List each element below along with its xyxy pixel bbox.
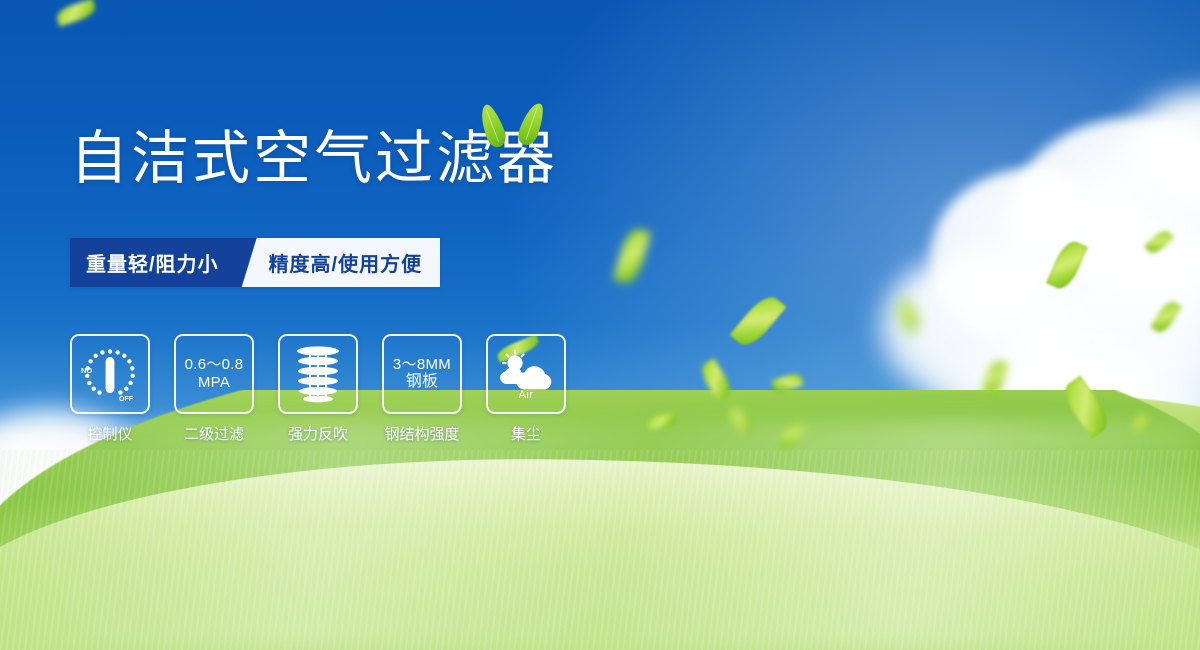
feature-item[interactable]: 0.6～0.8 MPA 二级过滤: [174, 334, 254, 444]
subtitle-right: 精度高/使用方便: [263, 238, 441, 287]
subtitle-bar: 重量轻/阻力小 精度高/使用方便: [70, 238, 440, 287]
feature-item[interactable]: Air 集尘: [486, 334, 566, 444]
page-title: 自洁式空气过滤器: [70, 130, 558, 188]
filter-cartridge-icon: [278, 334, 358, 414]
feature-label: 二级过滤: [184, 423, 244, 444]
pressure-value: 0.6～0.8: [185, 356, 244, 374]
feature-label: 控制仪: [87, 423, 132, 444]
feature-item[interactable]: NO OFF 控制仪: [70, 334, 150, 444]
air-cloud-icon: Air: [486, 334, 566, 414]
feature-item[interactable]: 3～8MM 钢板 钢结构强度: [382, 334, 462, 444]
air-label: Air: [519, 389, 534, 401]
steel-material: 钢板: [406, 373, 439, 392]
feature-item[interactable]: 强力反吹: [278, 334, 358, 444]
feature-label: 钢结构强度: [384, 423, 459, 444]
subtitle-left: 重量轻/阻力小: [70, 238, 237, 287]
gauge-off-label: OFF: [119, 396, 134, 403]
steel-thickness: 3～8MM: [393, 356, 451, 374]
feature-label: 集尘: [511, 423, 541, 444]
gauge-on-label: NO: [81, 366, 92, 375]
steel-plate-icon: 3～8MM 钢板: [382, 334, 462, 414]
feature-list: NO OFF 控制仪 0.6～0.8 MPA 二级过滤: [70, 334, 566, 444]
feature-label: 强力反吹: [288, 423, 348, 444]
pressure-icon: 0.6～0.8 MPA: [174, 334, 254, 414]
pressure-unit: MPA: [198, 374, 230, 392]
title-block: 自洁式空气过滤器: [70, 130, 558, 188]
subtitle-divider: [237, 238, 263, 287]
gauge-icon: NO OFF: [70, 334, 150, 414]
product-banner: 自洁式空气过滤器 重量轻/阻力小 精度高/使用方便: [0, 0, 1200, 650]
